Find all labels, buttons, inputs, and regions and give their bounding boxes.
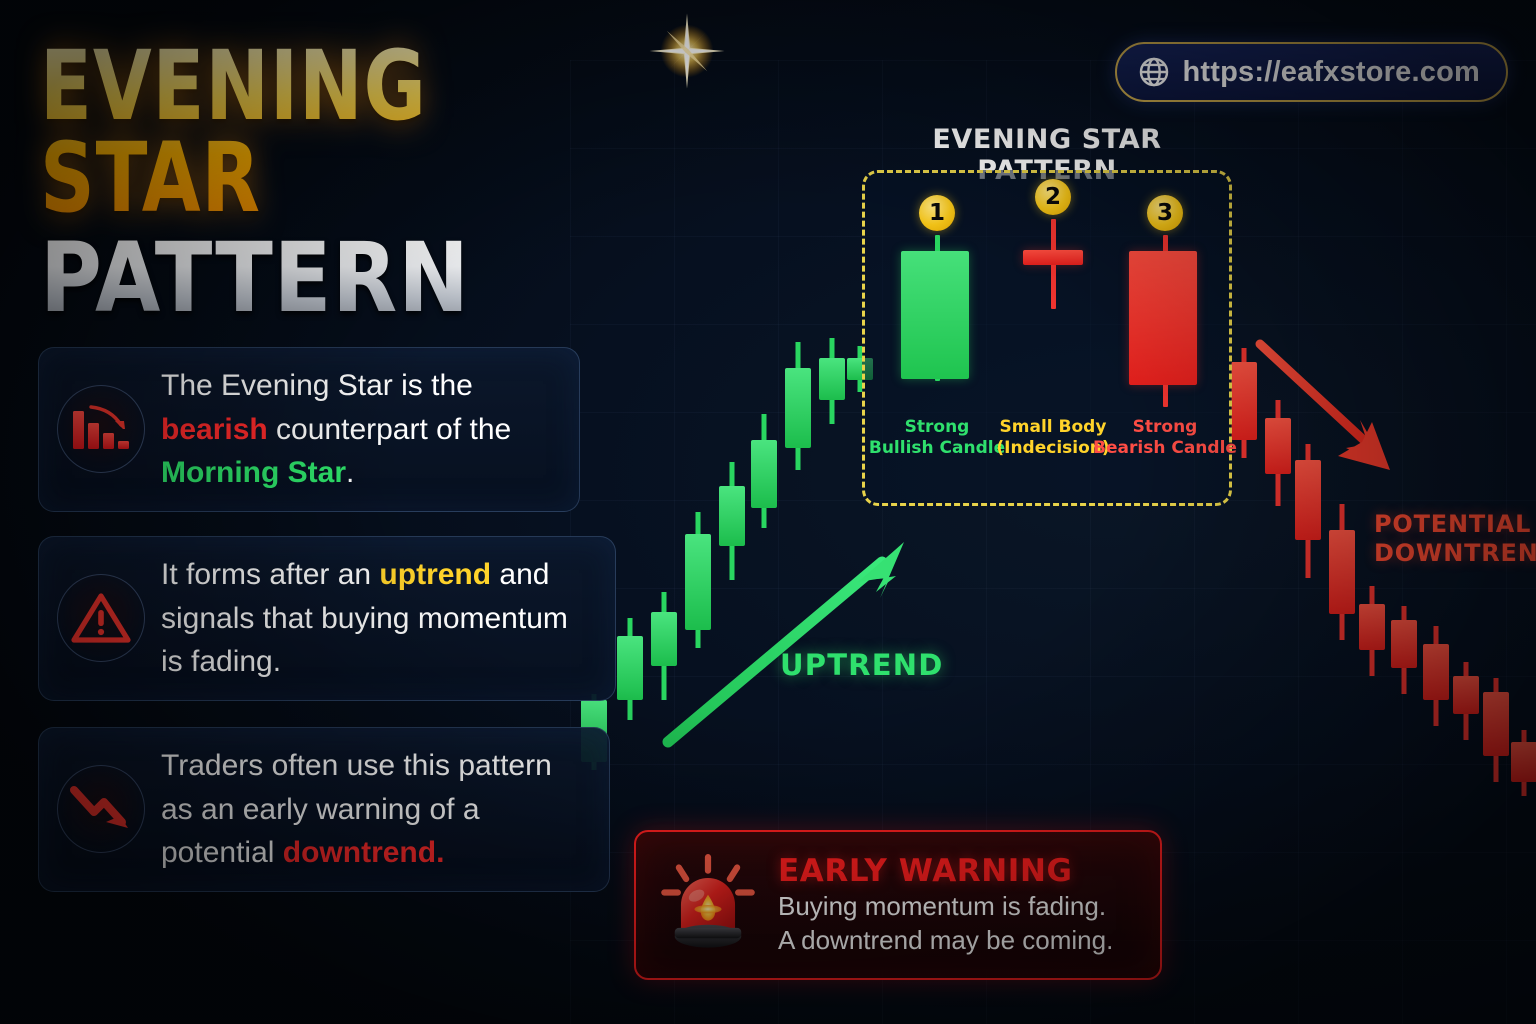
chart-candle-body [819,358,845,400]
info-card-1-text: The Evening Star is the bearish counterp… [161,364,561,495]
seg: . [346,456,354,489]
seg: counterpart of the [268,413,512,446]
downtrend-arrow-icon [1250,336,1410,496]
page-title: EVENING STAR PATTERN [40,40,760,326]
globe-icon [1137,55,1171,89]
seg-highlight-bearish: bearish [161,413,268,446]
warning-title: EARLY WARNING [778,853,1113,889]
uptrend-label: UPTREND [780,648,943,682]
pattern-candle-3: 3 Strong Bearish Candle [1105,173,1225,503]
warning-text-block: EARLY WARNING Buying momentum is fading.… [778,853,1113,958]
website-url-badge[interactable]: https://eafxstore.com [1115,42,1509,102]
info-card-early-warning-downtrend: Traders often use this pattern as an ear… [38,727,610,892]
candle-2-body [1023,250,1083,265]
info-card-3-text: Traders often use this pattern as an ear… [161,744,591,875]
pattern-badge-2: 2 [1035,179,1071,215]
seg-highlight-uptrend: uptrend [379,558,491,591]
info-card-bearish-counterpart: The Evening Star is the bearish counterp… [38,347,580,512]
declining-bar-chart-icon [57,385,145,473]
warning-line-2: A downtrend may be coming. [778,923,1113,957]
chart-candle-body [1391,620,1417,668]
candle-3-body [1129,251,1197,385]
title-line-1: EVENING STAR [40,40,674,224]
info-card-2-text: It forms after an uptrend and signals th… [161,553,597,684]
chart-candle-body [751,440,777,508]
candle-1-body [901,251,969,379]
info-card-forms-after-uptrend: It forms after an uptrend and signals th… [38,536,616,701]
chart-candle-body [1359,604,1385,650]
warning-triangle-icon [57,574,145,662]
chart-candle-body [1511,742,1536,782]
chart-candle-body [1453,676,1479,714]
chart-candle-body [1423,644,1449,700]
siren-beacon-icon [656,853,760,957]
title-line-2: PATTERN [40,230,674,326]
chart-candle-body [785,368,811,448]
seg-highlight-downtrend: downtrend. [283,836,445,869]
early-warning-box: EARLY WARNING Buying momentum is fading.… [634,830,1162,980]
website-url-text: https://eafxstore.com [1183,56,1481,89]
chart-candle-body [1483,692,1509,756]
seg-highlight-morning-star: Morning Star [161,456,346,489]
pattern-badge-1: 1 [919,195,955,231]
infographic-canvas: UPTREND POTENTIAL DOWNTREND EVENING STAR… [0,0,1536,1024]
pattern-caption-3: Strong Bearish Candle [1085,417,1245,460]
seg: The Evening Star is the [161,369,473,402]
evening-star-pattern-box: 1 Strong Bullish Candle 2 Small Body (In… [862,170,1232,506]
warning-line-1: Buying momentum is fading. [778,889,1113,923]
chart-candle-body [1329,530,1355,614]
downtrend-arrow-icon [57,765,145,853]
pattern-badge-3: 3 [1147,195,1183,231]
uptrend-arrow-icon [640,520,930,770]
seg: It forms after an [161,558,379,591]
potential-downtrend-label: POTENTIAL DOWNTREND [1374,510,1536,568]
